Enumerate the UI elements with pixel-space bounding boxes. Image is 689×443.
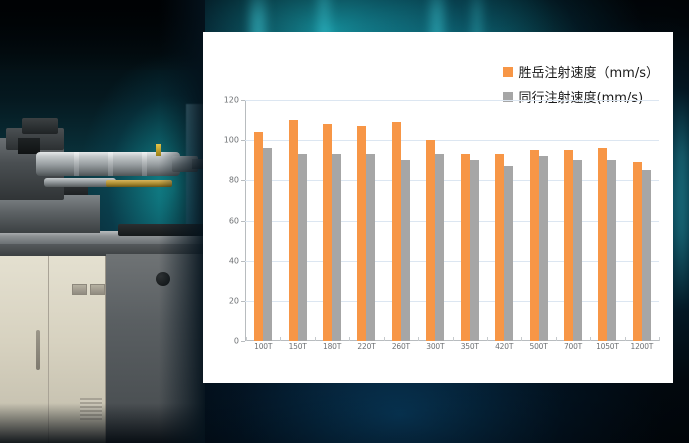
bar-series-a	[633, 162, 642, 341]
y-tick-mark	[241, 261, 245, 262]
y-tick-label: 100	[224, 136, 239, 145]
bar-group	[246, 100, 280, 341]
x-tick-label: 220T	[349, 342, 383, 356]
x-tick-label: 260T	[384, 342, 418, 356]
bar-series-b	[504, 166, 513, 341]
bar-series-a	[461, 154, 470, 341]
y-tick-label: 120	[224, 96, 239, 105]
bar-group	[349, 100, 383, 341]
bar-group	[280, 100, 314, 341]
x-axis-labels: 100T150T180T220T260T300T350T420T500T700T…	[246, 342, 659, 356]
x-tick-label: 700T	[556, 342, 590, 356]
photo-clamp-block	[22, 118, 58, 134]
bar-series-a	[392, 122, 401, 341]
x-tick-label: 420T	[487, 342, 521, 356]
y-tick-mark	[241, 341, 245, 342]
photo-heater-band-2	[108, 152, 113, 176]
bar-series-b	[642, 170, 651, 341]
legend-swatch-series-a	[503, 67, 513, 77]
x-tick-mark	[453, 337, 454, 341]
x-tick-mark	[625, 337, 626, 341]
y-tick-label: 40	[229, 256, 239, 265]
x-tick-mark	[315, 337, 316, 341]
x-tick-label: 1050T	[590, 342, 624, 356]
y-tick-mark	[241, 180, 245, 181]
y-tick-label: 60	[229, 216, 239, 225]
x-tick-mark	[418, 337, 419, 341]
injection-molding-machine-photo	[0, 0, 205, 443]
bar-group	[315, 100, 349, 341]
photo-fade-right	[159, 0, 205, 443]
bar-series-a	[564, 150, 573, 341]
bar-group	[590, 100, 624, 341]
x-tick-mark	[349, 337, 350, 341]
slide-stage: 胜岳注射速度（mm/s） 同行注射速度(mm/s) 02040608010012…	[0, 0, 689, 443]
photo-cabinet-vent-left	[72, 284, 87, 295]
bar-group	[625, 100, 659, 341]
bar-series-a	[323, 124, 332, 341]
bar-series-a	[426, 140, 435, 341]
bar-group	[521, 100, 555, 341]
bar-series-b	[366, 154, 375, 341]
bar-group	[384, 100, 418, 341]
legend-label-series-a: 胜岳注射速度（mm/s）	[519, 62, 659, 81]
x-tick-mark	[487, 337, 488, 341]
bar-series-b	[607, 160, 616, 341]
photo-heater-band-3	[142, 152, 147, 176]
y-tick-label: 0	[234, 337, 239, 346]
bar-series-a	[289, 120, 298, 341]
x-tick-mark	[659, 337, 660, 341]
bar-series-a	[495, 154, 504, 341]
chart-panel: 胜岳注射速度（mm/s） 同行注射速度(mm/s) 02040608010012…	[203, 32, 673, 383]
bar-series-b	[332, 154, 341, 341]
legend-item-series-a: 胜岳注射速度（mm/s）	[503, 62, 659, 81]
bar-group	[453, 100, 487, 341]
y-tick-mark	[241, 140, 245, 141]
photo-base-rail	[0, 195, 100, 233]
bar-series-b	[435, 154, 444, 341]
x-tick-mark	[246, 337, 247, 341]
x-tick-label: 150T	[280, 342, 314, 356]
bar-series-b	[470, 160, 479, 341]
y-tick-mark	[241, 301, 245, 302]
bar-group	[418, 100, 452, 341]
bar-group	[556, 100, 590, 341]
x-tick-mark	[521, 337, 522, 341]
x-tick-label: 180T	[315, 342, 349, 356]
bar-series-b	[539, 156, 548, 341]
photo-machine-body-port	[18, 138, 40, 154]
y-tick-mark	[241, 100, 245, 101]
y-tick-label: 20	[229, 296, 239, 305]
bar-group	[487, 100, 521, 341]
bar-series-a	[598, 148, 607, 341]
photo-heater-band-1	[74, 152, 79, 176]
bar-series-b	[263, 148, 272, 341]
x-tick-mark	[556, 337, 557, 341]
bar-series-a	[357, 126, 366, 341]
x-tick-mark	[384, 337, 385, 341]
photo-cabinet-vent-right	[90, 284, 105, 295]
y-tick-mark	[241, 221, 245, 222]
chart-plot-area: 020406080100120 100T150T180T220T260T300T…	[245, 100, 659, 378]
x-tick-label: 100T	[246, 342, 280, 356]
background-streak-5	[676, 90, 688, 310]
x-tick-mark	[280, 337, 281, 341]
y-tick-label: 80	[229, 176, 239, 185]
bar-series-b	[401, 160, 410, 341]
bar-series-a	[254, 132, 263, 341]
x-tick-mark	[590, 337, 591, 341]
photo-cabinet-handle	[36, 330, 40, 370]
x-tick-label: 350T	[453, 342, 487, 356]
x-tick-label: 1200T	[625, 342, 659, 356]
bar-series-b	[573, 160, 582, 341]
x-tick-label: 300T	[418, 342, 452, 356]
x-tick-label: 500T	[521, 342, 555, 356]
bar-series-b	[298, 154, 307, 341]
bar-series-a	[530, 150, 539, 341]
bar-groups	[246, 100, 659, 341]
